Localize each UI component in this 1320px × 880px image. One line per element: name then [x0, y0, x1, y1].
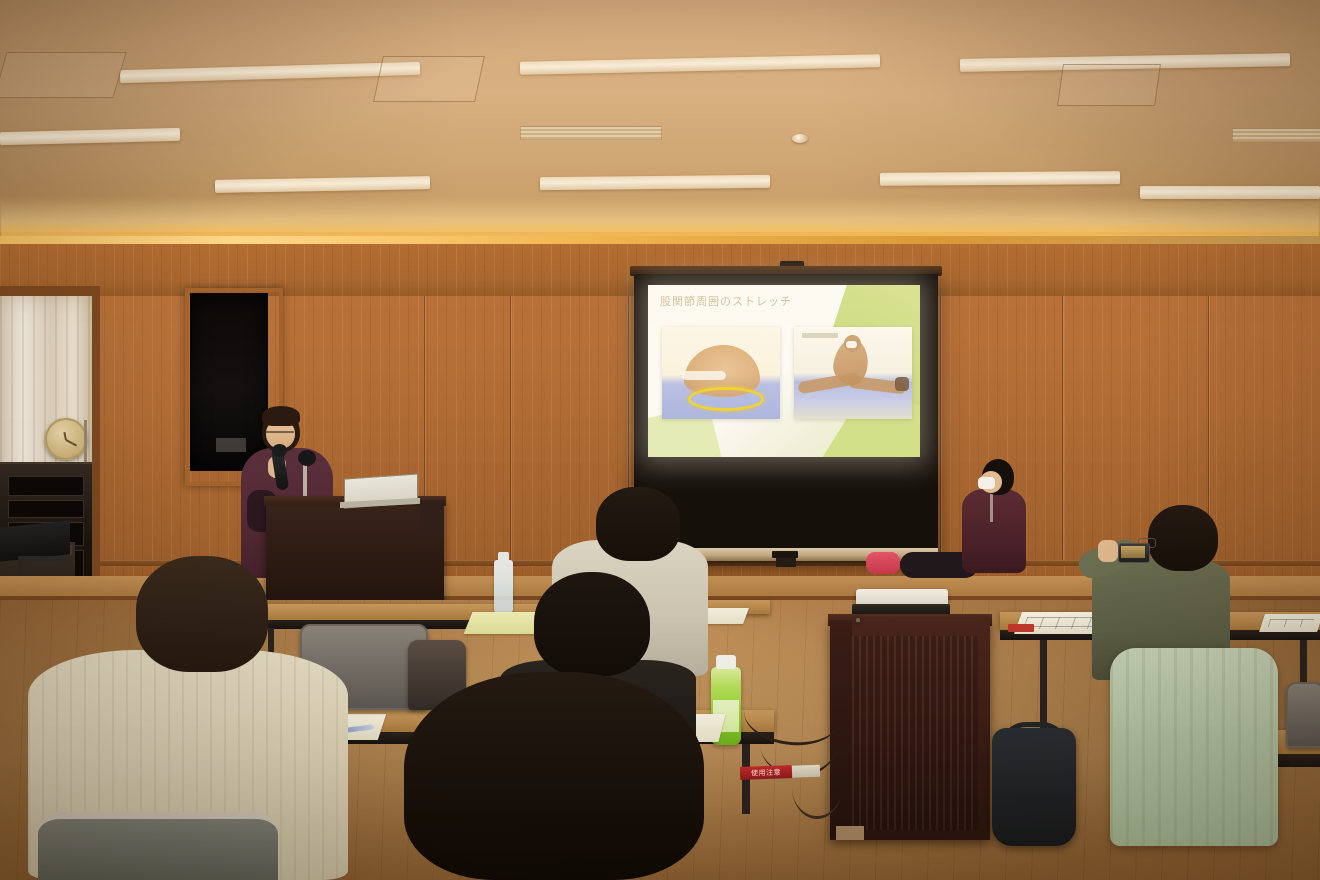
- smartphone-screen: [1121, 546, 1145, 558]
- screen-pull-tab: [776, 558, 796, 567]
- handout-grid: [1259, 614, 1320, 632]
- ceiling-light-strip: [540, 175, 770, 190]
- slide-photo-right: [794, 327, 912, 419]
- slide-photo-caption-bar: [802, 333, 838, 338]
- bag-on-chair: [38, 812, 278, 880]
- green-fleece-jacket: [1110, 648, 1278, 846]
- ceiling-dome-light: [792, 134, 808, 143]
- stretch-figure-foot: [895, 377, 909, 391]
- audience-foreground-head: [404, 672, 704, 880]
- equipment-cabinet: [830, 618, 990, 840]
- mic-stand-head: [298, 450, 316, 466]
- microphone-head: [272, 444, 287, 457]
- ceiling-vent: [1232, 128, 1320, 142]
- slide-photo-left: [662, 327, 780, 419]
- ceiling-light-strip: [880, 171, 1120, 186]
- yellow-ellipse-annotation: [688, 387, 764, 411]
- audience-cream-sweater-head: [136, 556, 268, 672]
- warning-label: 使用注意: [740, 765, 792, 780]
- photographer-hand: [1098, 540, 1118, 562]
- shoulder-bag: [992, 728, 1076, 846]
- stacking-chair: [856, 618, 860, 622]
- screen-brand-logo: [772, 551, 798, 558]
- audience-curly-head: [534, 572, 650, 676]
- table-leg: [1040, 640, 1047, 732]
- demonstrator-body: [962, 489, 1026, 573]
- projected-slide: 股関節周囲のストレッチ: [648, 285, 920, 457]
- ceiling-access-hatch: [0, 52, 127, 98]
- lanyard: [990, 492, 993, 522]
- stretch-figure-arm: [682, 371, 726, 380]
- wall-clock: [45, 418, 87, 460]
- ceiling-vent: [520, 126, 662, 140]
- photographer-head: [1148, 505, 1218, 571]
- red-shoe: [866, 552, 900, 574]
- slide-title: 股関節周囲のストレッチ: [660, 293, 792, 309]
- niche-reflection: [216, 438, 246, 452]
- glasses-icon: [266, 431, 294, 439]
- face-mask: [978, 477, 995, 489]
- water-bottle: [494, 560, 513, 614]
- ceiling-access-hatch: [373, 56, 485, 102]
- audience-leaning-head: [596, 487, 680, 561]
- bottle-cap: [498, 552, 509, 562]
- bottle-cap: [716, 655, 736, 669]
- podium-side: [420, 500, 444, 536]
- ceiling-access-hatch: [1057, 64, 1161, 106]
- podium: [266, 498, 444, 610]
- seminar-room-photo: 股関節周囲のストレッチ: [0, 0, 1320, 880]
- presenter-hair: [262, 406, 300, 426]
- cabinet-foot: [836, 826, 864, 840]
- monitor-stand: [18, 556, 72, 562]
- face-mask-icon: [846, 341, 857, 348]
- stacking-chair: [1286, 682, 1320, 748]
- chair-label: [1008, 624, 1034, 632]
